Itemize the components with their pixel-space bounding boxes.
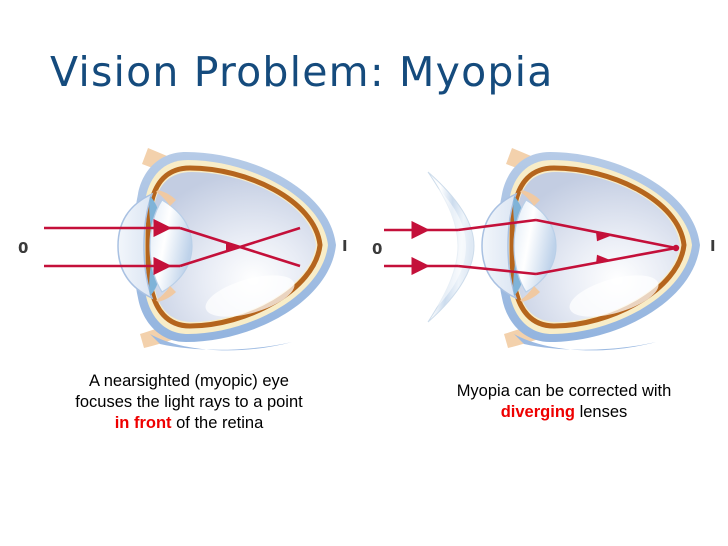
- caption-left: A nearsighted (myopic) eye focuses the l…: [14, 371, 364, 434]
- caption-left-line3-rest: of the retina: [172, 414, 264, 432]
- object-label-right: 0: [372, 240, 382, 258]
- caption-right-line2-rest: lenses: [575, 403, 627, 421]
- image-label-left: I: [342, 237, 348, 255]
- slide-canvas: Vision Problem: Myopia: [0, 0, 728, 546]
- caption-left-line2: focuses the light rays to a point: [14, 392, 364, 413]
- caption-right-line2: diverging lenses: [404, 402, 724, 423]
- diverging-corrective-lens: [428, 172, 474, 322]
- object-label-left: 0: [18, 239, 28, 257]
- caption-right-highlight: diverging: [501, 403, 575, 421]
- image-label-right: I: [710, 237, 716, 255]
- page-title: Vision Problem: Myopia: [50, 48, 690, 96]
- figure-uncorrected-myopic-eye: 0 I: [0, 138, 364, 358]
- caption-left-highlight: in front: [115, 414, 172, 432]
- caption-left-line3: in front of the retina: [14, 413, 364, 434]
- caption-right-line1: Myopia can be corrected with: [404, 381, 724, 402]
- figure-corrected-myopic-eye: 0 I: [364, 138, 728, 358]
- caption-left-line1: A nearsighted (myopic) eye: [14, 371, 364, 392]
- caption-right: Myopia can be corrected with diverging l…: [404, 381, 724, 423]
